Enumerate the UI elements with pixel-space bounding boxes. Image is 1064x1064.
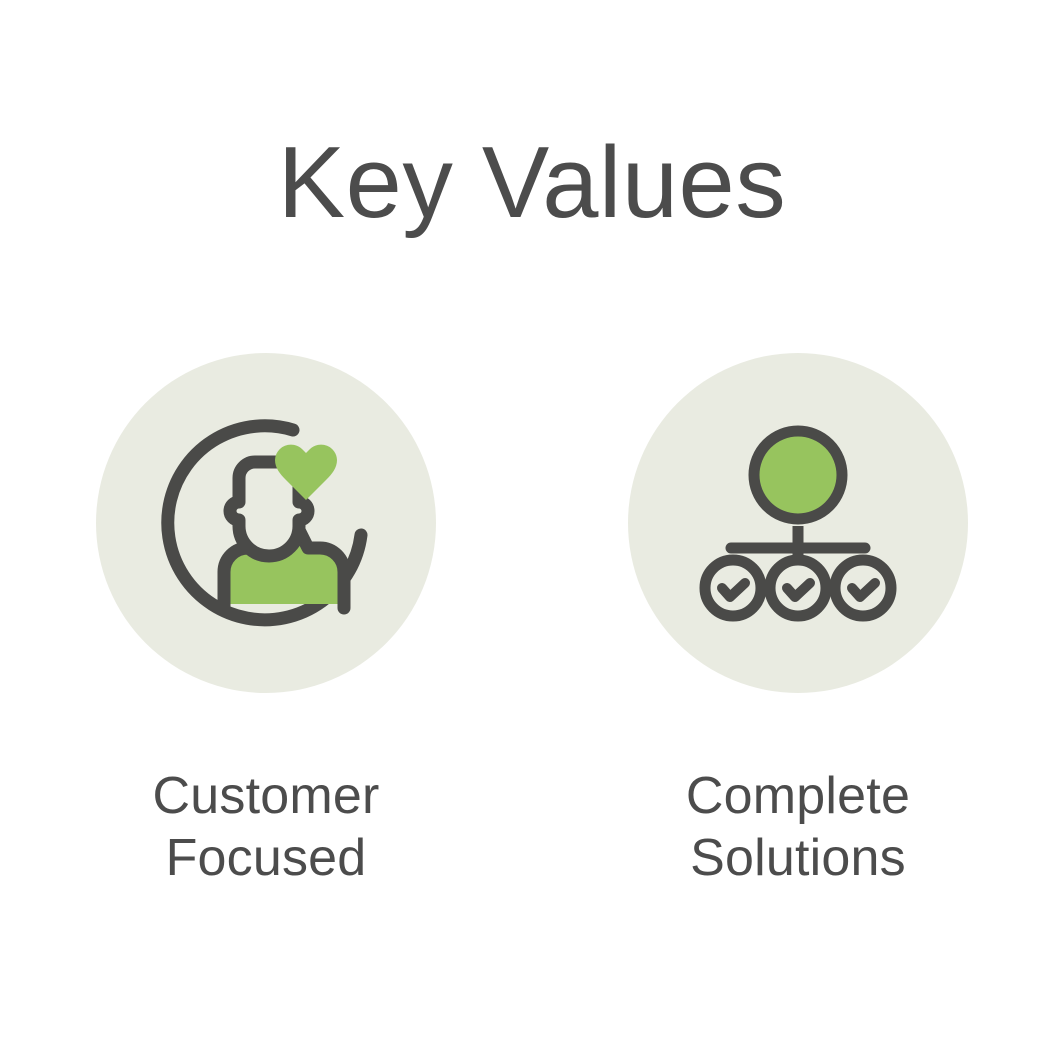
check-node-3: [835, 560, 891, 616]
value-card-customer-focused[interactable]: Customer Focused: [0, 353, 532, 889]
hierarchy-checkmarks-icon: [683, 408, 913, 638]
parent-node-circle: [754, 431, 842, 519]
icon-disc-complete-solutions: [628, 353, 968, 693]
customer-heart-icon: [151, 408, 381, 638]
icon-disc-customer-focused: [96, 353, 436, 693]
page-title: Key Values: [0, 128, 1064, 238]
value-label-complete-solutions: Complete Solutions: [686, 765, 910, 889]
values-row: Customer Focused: [0, 353, 1064, 889]
slide-root: Key Values Customer Focused: [0, 0, 1064, 1064]
check-node-1: [705, 560, 761, 616]
value-card-complete-solutions[interactable]: Complete Solutions: [532, 353, 1064, 889]
check-node-2: [770, 560, 826, 616]
value-label-customer-focused: Customer Focused: [153, 765, 380, 889]
